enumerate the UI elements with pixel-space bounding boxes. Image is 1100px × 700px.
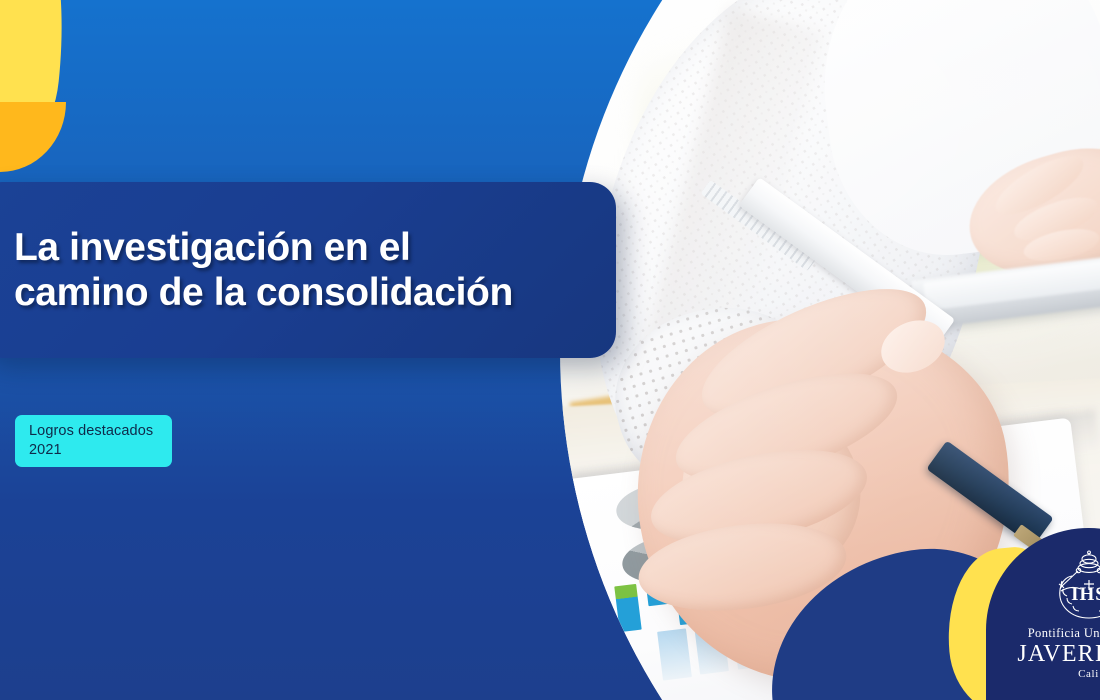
page-title: La investigación en el camino de la cons…: [0, 225, 513, 315]
logo-line-javeriana: JAVERIANA: [1017, 642, 1100, 667]
university-logo-panel: IHS Pontificia Universidad JAVERIANA Cal…: [986, 528, 1100, 700]
orange-accent-shape: [0, 102, 66, 172]
logo-line-pontificia: Pontificia Universidad: [1028, 626, 1100, 641]
javeriana-crest-icon: IHS: [1048, 550, 1100, 624]
slide-canvas: IHS Pontificia Universidad JAVERIANA Cal…: [0, 0, 1100, 700]
svg-text:IHS: IHS: [1071, 584, 1100, 605]
logo-line-cali: Cali: [1078, 668, 1099, 680]
title-card: La investigación en el camino de la cons…: [0, 182, 616, 358]
status-badge: Logros destacados 2021: [15, 415, 172, 467]
